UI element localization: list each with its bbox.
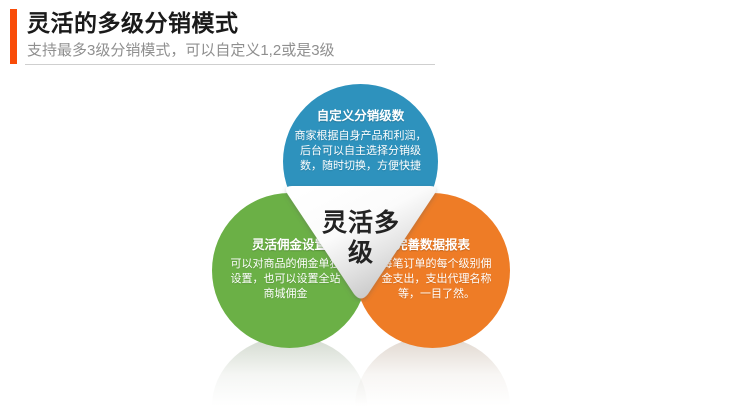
- header-divider: [25, 64, 435, 65]
- page-title: 灵活的多级分销模式: [27, 8, 239, 38]
- venn-lobe-top-body: 商家根据自身产品和利润，后台可以自主选择分销级数，随时切换，方便快捷: [283, 129, 438, 174]
- venn-lobe-top-title: 自定义分销级数: [283, 108, 438, 124]
- page-subtitle: 支持最多3级分销模式，可以自定义1,2或是3级: [27, 41, 335, 61]
- accent-bar-icon: [10, 9, 17, 64]
- center-triangle-shape: [282, 184, 440, 302]
- page-header: 灵活的多级分销模式 支持最多3级分销模式，可以自定义1,2或是3级: [0, 0, 750, 72]
- venn-diagram: 自定义分销级数 商家根据自身产品和利润，后台可以自主选择分销级数，随时切换，方便…: [0, 72, 750, 400]
- venn-center-triangle[interactable]: 灵活多 级: [282, 184, 440, 302]
